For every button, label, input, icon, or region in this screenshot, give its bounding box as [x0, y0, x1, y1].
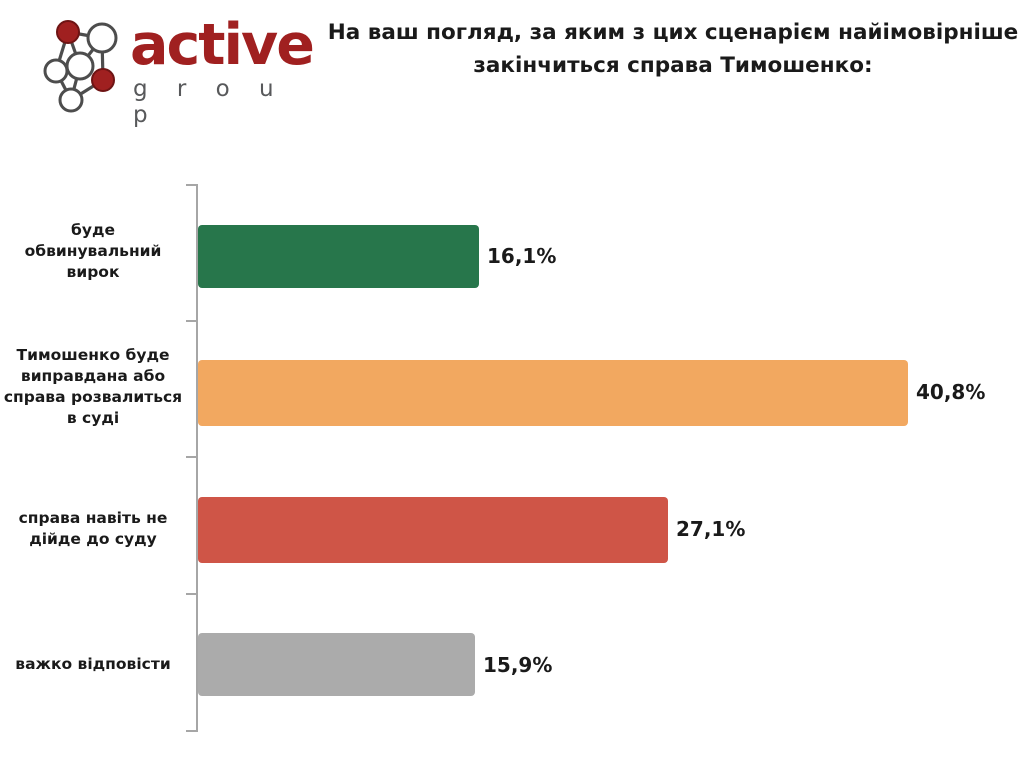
axis-tick [186, 456, 197, 458]
category-label-line: справа розвалиться [0, 387, 186, 408]
axis-tick [186, 184, 197, 186]
bar-0[interactable] [198, 225, 479, 288]
category-label-0: буде обвинувальний вирок [0, 220, 186, 283]
bar-value-label-2: 27,1% [676, 518, 745, 540]
bar-value-label-0: 16,1% [487, 245, 556, 267]
category-label-3: важко відповісти [0, 654, 186, 675]
category-label-line: виправдана або [0, 366, 186, 387]
category-label-line: буде [0, 220, 186, 241]
category-label-1: Тимошенко буде виправдана або справа роз… [0, 345, 186, 429]
axis-tick [186, 593, 197, 595]
bar-value-label-3: 15,9% [483, 654, 552, 676]
category-label-line: в суді [0, 408, 186, 429]
category-label-line: дійде до суду [0, 529, 186, 550]
category-label-line: справа навіть не [0, 508, 186, 529]
category-label-line: Тимошенко буде [0, 345, 186, 366]
axis-tick [186, 730, 197, 732]
category-label-line: вирок [0, 262, 186, 283]
bar-2[interactable] [198, 497, 668, 563]
bar-3[interactable] [198, 633, 475, 696]
category-label-line: важко відповісти [0, 654, 186, 675]
category-label-2: справа навіть не дійде до суду [0, 508, 186, 550]
bar-1[interactable] [198, 360, 908, 426]
category-label-line: обвинувальний [0, 241, 186, 262]
bar-chart: буде обвинувальний вирок 16,1% Тимошенко… [0, 0, 1024, 768]
bar-value-label-1: 40,8% [916, 381, 985, 403]
axis-tick [186, 320, 197, 322]
